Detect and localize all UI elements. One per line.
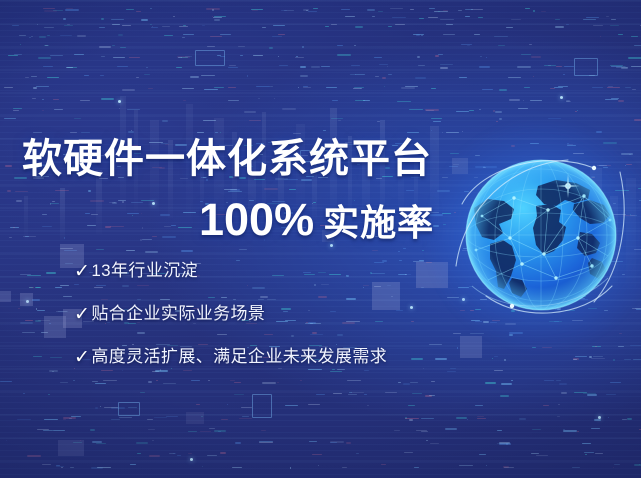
list-item-label: 高度灵活扩展、满足企业未来发展需求	[91, 347, 387, 367]
globe-icon	[452, 146, 630, 324]
percent-label: 实施率	[323, 205, 434, 241]
percent-value: 100%	[199, 197, 314, 242]
check-icon: ✓	[74, 347, 90, 369]
list-item-label: 贴合企业实际业务场景	[91, 304, 265, 324]
list-item: ✓ 贴合企业实际业务场景	[74, 303, 387, 325]
list-item-label: 13年行业沉淀	[91, 261, 198, 281]
promo-banner: 软硬件一体化系统平台 100% 实施率 ✓ 13年行业沉淀 ✓ 贴合企业实际业务…	[0, 0, 641, 478]
globe-illustration	[452, 146, 630, 324]
subheadline: 100% 实施率	[199, 197, 434, 242]
list-item: ✓ 13年行业沉淀	[74, 260, 387, 282]
list-item: ✓ 高度灵活扩展、满足企业未来发展需求	[74, 346, 387, 368]
check-icon: ✓	[74, 304, 90, 326]
headline: 软硬件一体化系统平台	[22, 139, 432, 179]
check-icon: ✓	[74, 261, 90, 283]
feature-list: ✓ 13年行业沉淀 ✓ 贴合企业实际业务场景 ✓ 高度灵活扩展、满足企业未来发展…	[74, 260, 387, 368]
